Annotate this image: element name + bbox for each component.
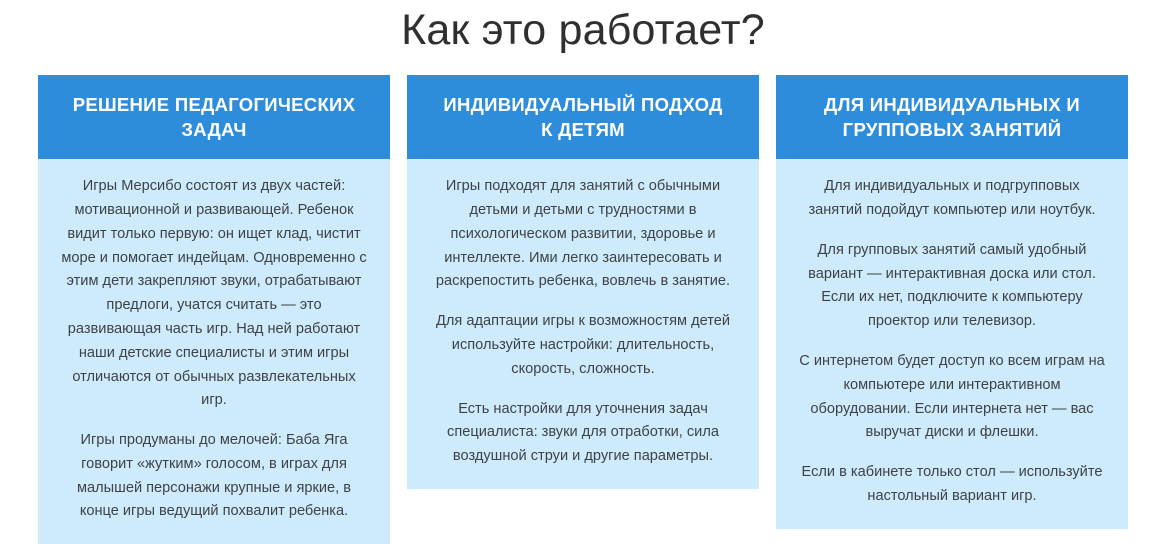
- card-header-line: ЗАДАЧ: [73, 118, 356, 143]
- card-paragraph: Если в кабинете только стол — используйт…: [798, 461, 1106, 509]
- cards-container: РЕШЕНИЕ ПЕДАГОГИЧЕСКИХ ЗАДАЧ Игры Мерсиб…: [0, 75, 1166, 544]
- card-paragraph: Игры Мерсибо состоят из двух частей: мот…: [60, 175, 368, 413]
- card-header-line: ИНДИВИДУАЛЬНЫЙ ПОДХОД: [443, 93, 722, 118]
- page-title: Как это работает?: [0, 0, 1166, 53]
- card-header-line: К ДЕТЯМ: [443, 118, 722, 143]
- card-header-pedagogical-tasks: РЕШЕНИЕ ПЕДАГОГИЧЕСКИХ ЗАДАЧ: [38, 75, 390, 159]
- card-body-individual-approach: Игры подходят для занятий с обычными дет…: [407, 159, 759, 489]
- card-paragraph: С интернетом будет доступ ко всем играм …: [798, 350, 1106, 445]
- card-header-line: ДЛЯ ИНДИВИДУАЛЬНЫХ И: [824, 93, 1080, 118]
- card-paragraph: Для адаптации игры к возможностям детей …: [429, 310, 737, 381]
- card-header-line: ГРУППОВЫХ ЗАНЯТИЙ: [824, 118, 1080, 143]
- card-header-individual-and-group-lessons: ДЛЯ ИНДИВИДУАЛЬНЫХ И ГРУППОВЫХ ЗАНЯТИЙ: [776, 75, 1128, 159]
- card-paragraph: Игры продуманы до мелочей: Баба Яга гово…: [60, 429, 368, 524]
- card-paragraph: Есть настройки для уточнения задач специ…: [429, 398, 737, 469]
- card-body-individual-and-group-lessons: Для индивидуальных и подгрупповых заняти…: [776, 159, 1128, 528]
- card-paragraph: Игры подходят для занятий с обычными дет…: [429, 175, 737, 294]
- card-individual-and-group-lessons: ДЛЯ ИНДИВИДУАЛЬНЫХ И ГРУППОВЫХ ЗАНЯТИЙ Д…: [776, 75, 1128, 529]
- card-header-line: РЕШЕНИЕ ПЕДАГОГИЧЕСКИХ: [73, 93, 356, 118]
- card-paragraph: Для групповых занятий самый удобный вари…: [798, 239, 1106, 334]
- card-header-individual-approach: ИНДИВИДУАЛЬНЫЙ ПОДХОД К ДЕТЯМ: [407, 75, 759, 159]
- card-individual-approach: ИНДИВИДУАЛЬНЫЙ ПОДХОД К ДЕТЯМ Игры подхо…: [407, 75, 759, 489]
- card-body-pedagogical-tasks: Игры Мерсибо состоят из двух частей: мот…: [38, 159, 390, 544]
- card-paragraph: Для индивидуальных и подгрупповых заняти…: [798, 175, 1106, 223]
- how-it-works-section: Как это работает? РЕШЕНИЕ ПЕДАГОГИЧЕСКИХ…: [0, 0, 1166, 511]
- card-pedagogical-tasks: РЕШЕНИЕ ПЕДАГОГИЧЕСКИХ ЗАДАЧ Игры Мерсиб…: [38, 75, 390, 544]
